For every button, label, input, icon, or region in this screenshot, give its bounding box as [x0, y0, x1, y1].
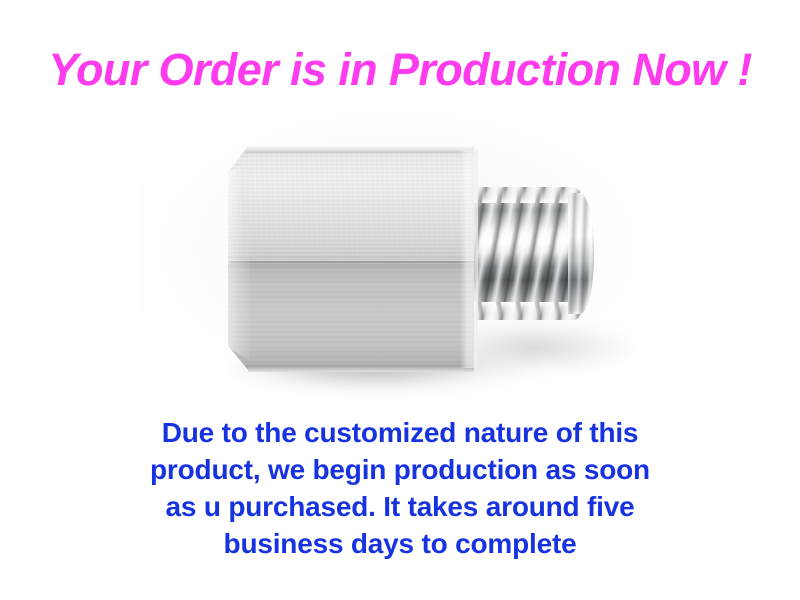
notice-line-3: as u purchased. It takes around five	[0, 488, 800, 525]
notice-line-2: product, we begin production as soon	[0, 451, 800, 488]
hex-facet-edge	[230, 260, 474, 264]
notice-line-1: Due to the customized nature of this	[0, 414, 800, 451]
hex-pipe-adapter-fitting	[0, 110, 800, 410]
page-title: Your Order is in Production Now !	[0, 42, 800, 98]
notice-line-4: business days to complete	[0, 525, 800, 562]
hex-body	[228, 146, 474, 372]
product-photo	[0, 110, 800, 410]
hex-bottom-edge	[248, 365, 474, 372]
hex-thread-shoulder	[460, 150, 478, 368]
hex-upper-machining-grain	[228, 146, 474, 264]
hex-top-edge	[246, 146, 474, 153]
promo-banner: Your Order is in Production Now !	[0, 0, 800, 600]
hex-lower-machining-grain	[228, 264, 474, 372]
thread-end-cap-grooves	[568, 193, 594, 314]
production-notice: Due to the customized nature of this pro…	[0, 414, 800, 562]
